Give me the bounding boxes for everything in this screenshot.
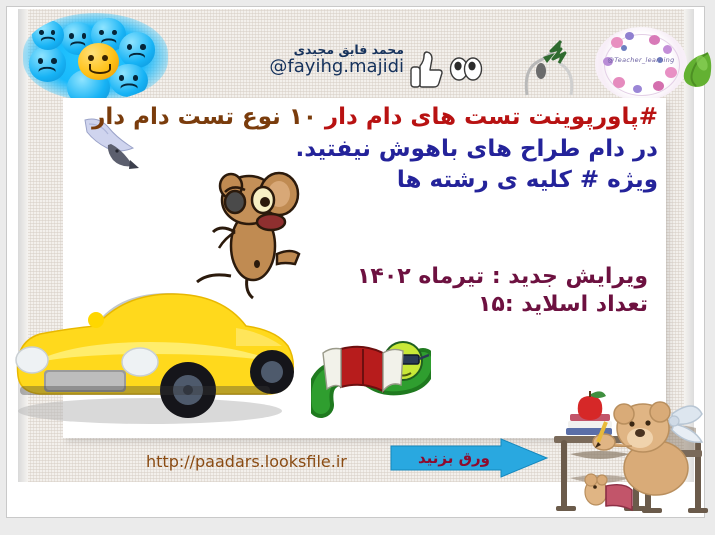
screenshot-root: محمد فایق مجیدی @fayihg.majidi [0,0,715,535]
plant-sprout-icon [521,35,579,97]
header-strip: محمد فایق مجیدی @fayihg.majidi [18,9,694,97]
slide-title-block: #پاورپوینت تست های دام دار ۱۰ نوع تست دا… [98,104,658,194]
title-line-2: در دام طراح های باهوش نیفتید. [98,136,658,163]
title-line-1: #پاورپوینت تست های دام دار ۱۰ نوع تست دا… [98,104,658,131]
blue-smiley-faces-logo [23,13,168,101]
next-slide-label: ورق بزنید [403,449,505,467]
teddy-bear-at-desk-illustration [548,388,713,518]
next-slide-arrow-button[interactable]: ورق بزنید [389,438,549,478]
yellow-sports-car-illustration [0,268,300,433]
green-apple-icon [678,49,714,89]
thumbs-up-icon [408,49,444,89]
title-line-1-red-tail: تست های دام دار [325,104,521,130]
bookworm-illustration [311,333,431,423]
slide-card: #پاورپوینت تست های دام دار ۱۰ نوع تست دا… [63,98,666,438]
eyes-icon [448,53,484,85]
title-line-1-red: #پاورپوینت [528,104,658,130]
author-handle: @fayihg.majidi [264,57,404,77]
floral-teacher-badge: @Teacher_learning [595,27,687,101]
site-url[interactable]: http://paadars.looksfile.ir [146,452,347,471]
badge-text: @Teacher_learning [595,56,687,64]
author-byline: محمد فایق مجیدی @fayihg.majidi [264,43,404,77]
title-line-3: ویژه # کلیه ی رشته ها [98,167,658,194]
author-name: محمد فایق مجیدی [264,43,404,57]
title-line-1-brown: ۱۰ نوع تست دام دار [92,104,317,130]
